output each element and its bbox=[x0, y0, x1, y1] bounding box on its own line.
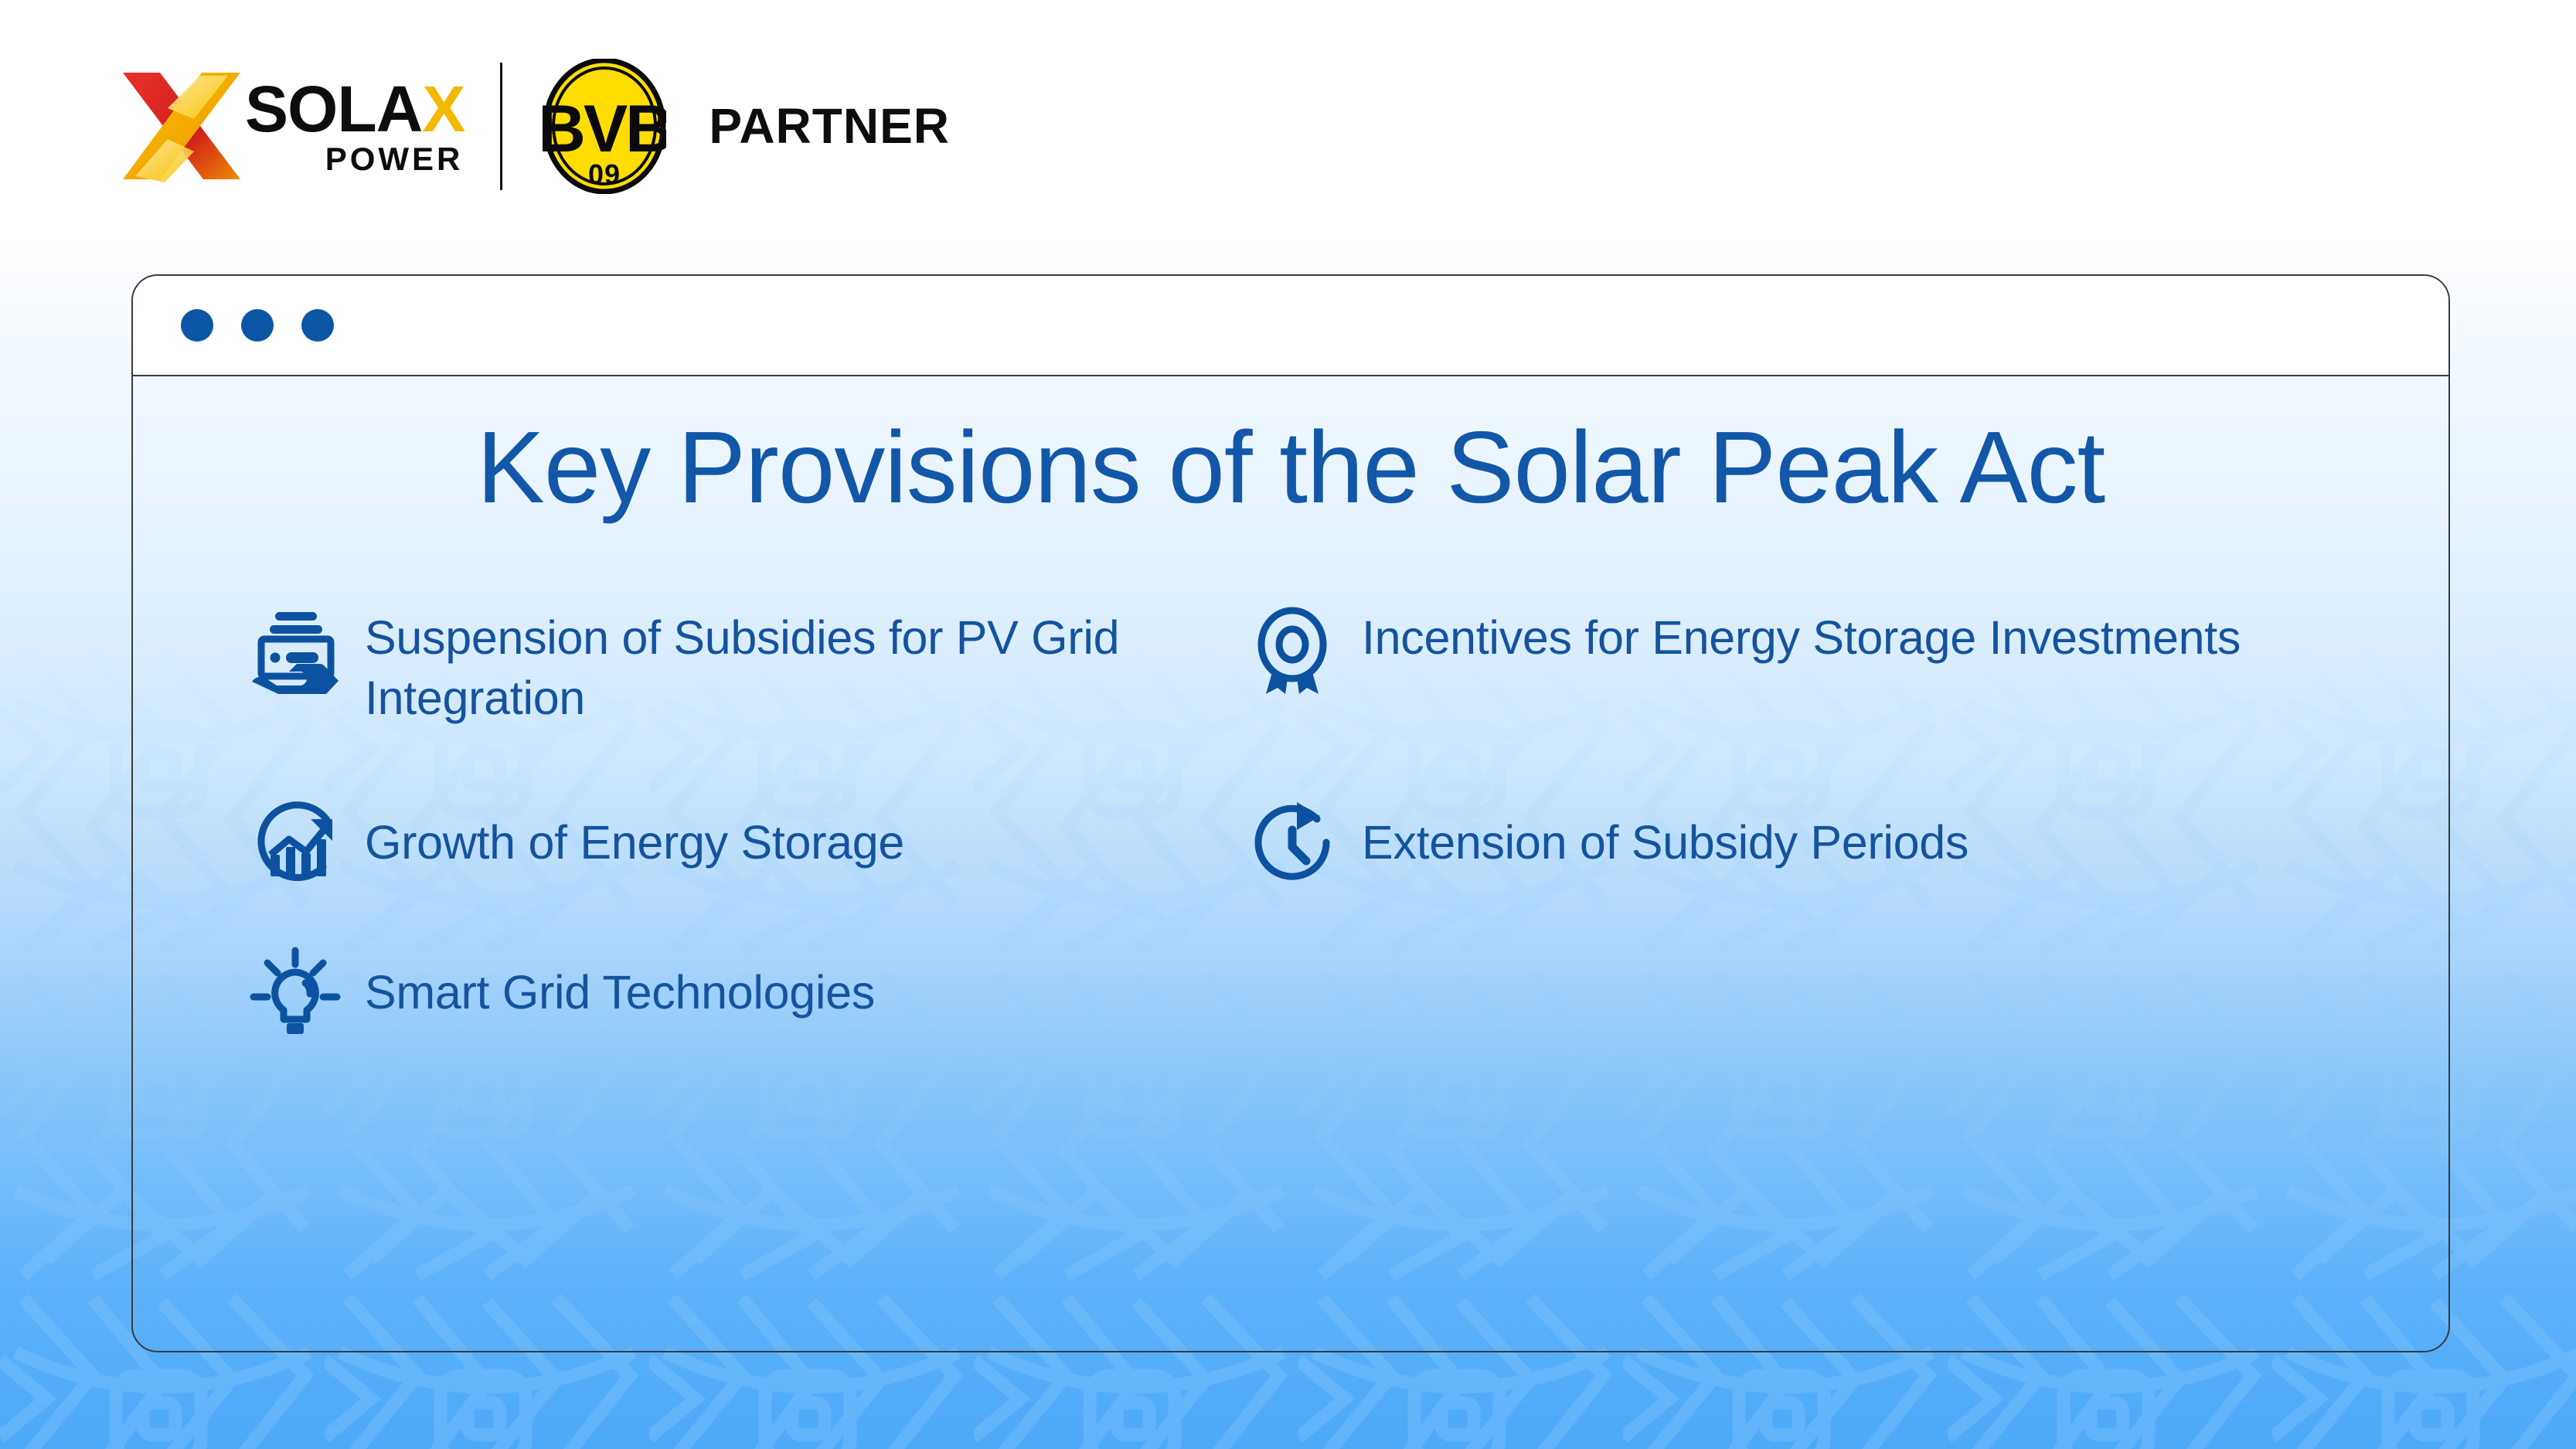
header-logo-bar: SOLAX POWER BVB 09 PARTNER bbox=[120, 60, 950, 192]
feature-list: Suspension of Subsidies for PV Grid Inte… bbox=[133, 604, 2448, 1039]
browser-titlebar bbox=[133, 276, 2448, 376]
feature-item-extension-of-subsidy-periods[interactable]: Extension of Subsidy Periods bbox=[1246, 796, 2243, 889]
brand-name-dark: SOLA bbox=[245, 73, 422, 145]
solax-wordmark: SOLAX POWER bbox=[245, 77, 464, 175]
clock-rotate-icon bbox=[1246, 796, 1339, 889]
window-controls bbox=[181, 309, 334, 342]
award-ribbon-icon bbox=[1246, 604, 1339, 697]
brand-tagline: POWER bbox=[325, 143, 464, 175]
browser-content: Key Provisions of the Solar Peak Act bbox=[133, 376, 2448, 1349]
svg-text:09: 09 bbox=[588, 158, 621, 190]
feature-label: Suspension of Subsidies for PV Grid Inte… bbox=[365, 604, 1246, 728]
feature-row-3-spacer bbox=[1246, 946, 2243, 1039]
feature-label: Extension of Subsidy Periods bbox=[1362, 812, 1969, 872]
hand-holding-document-icon bbox=[249, 604, 342, 697]
solax-x-mark-icon bbox=[120, 68, 243, 184]
lightbulb-idea-icon bbox=[249, 946, 342, 1039]
feature-item-smart-grid-technologies[interactable]: Smart Grid Technologies bbox=[249, 946, 1246, 1039]
feature-label: Incentives for Energy Storage Investment… bbox=[1362, 604, 2241, 668]
feature-row-2: Growth of Energy Storage Extension of Su… bbox=[249, 796, 2348, 889]
logo-divider bbox=[500, 63, 502, 190]
feature-label: Growth of Energy Storage bbox=[365, 812, 904, 872]
feature-label: Smart Grid Technologies bbox=[365, 962, 875, 1022]
feature-item-incentives-energy-storage[interactable]: Incentives for Energy Storage Investment… bbox=[1246, 604, 2243, 728]
browser-window-card: Key Provisions of the Solar Peak Act bbox=[131, 274, 2450, 1352]
window-dot-close[interactable] bbox=[181, 309, 213, 342]
window-dot-maximize[interactable] bbox=[301, 309, 334, 342]
page-title: Key Provisions of the Solar Peak Act bbox=[133, 409, 2448, 526]
growth-chart-icon bbox=[249, 796, 342, 889]
feature-row-1: Suspension of Subsidies for PV Grid Inte… bbox=[249, 604, 2348, 728]
brand-name-gold: X bbox=[422, 73, 464, 145]
feature-item-suspension-of-subsidies[interactable]: Suspension of Subsidies for PV Grid Inte… bbox=[249, 604, 1246, 728]
feature-item-growth-of-energy-storage[interactable]: Growth of Energy Storage bbox=[249, 796, 1246, 889]
slide-canvas: SOLAX POWER BVB 09 PARTNER Key Provi bbox=[0, 0, 2576, 1449]
partner-label: PARTNER bbox=[709, 97, 950, 155]
window-dot-minimize[interactable] bbox=[241, 309, 274, 342]
feature-row-3: Smart Grid Technologies bbox=[249, 946, 2348, 1039]
bvb-club-crest-icon: BVB 09 bbox=[543, 59, 666, 194]
svg-text:BVB: BVB bbox=[543, 92, 666, 166]
